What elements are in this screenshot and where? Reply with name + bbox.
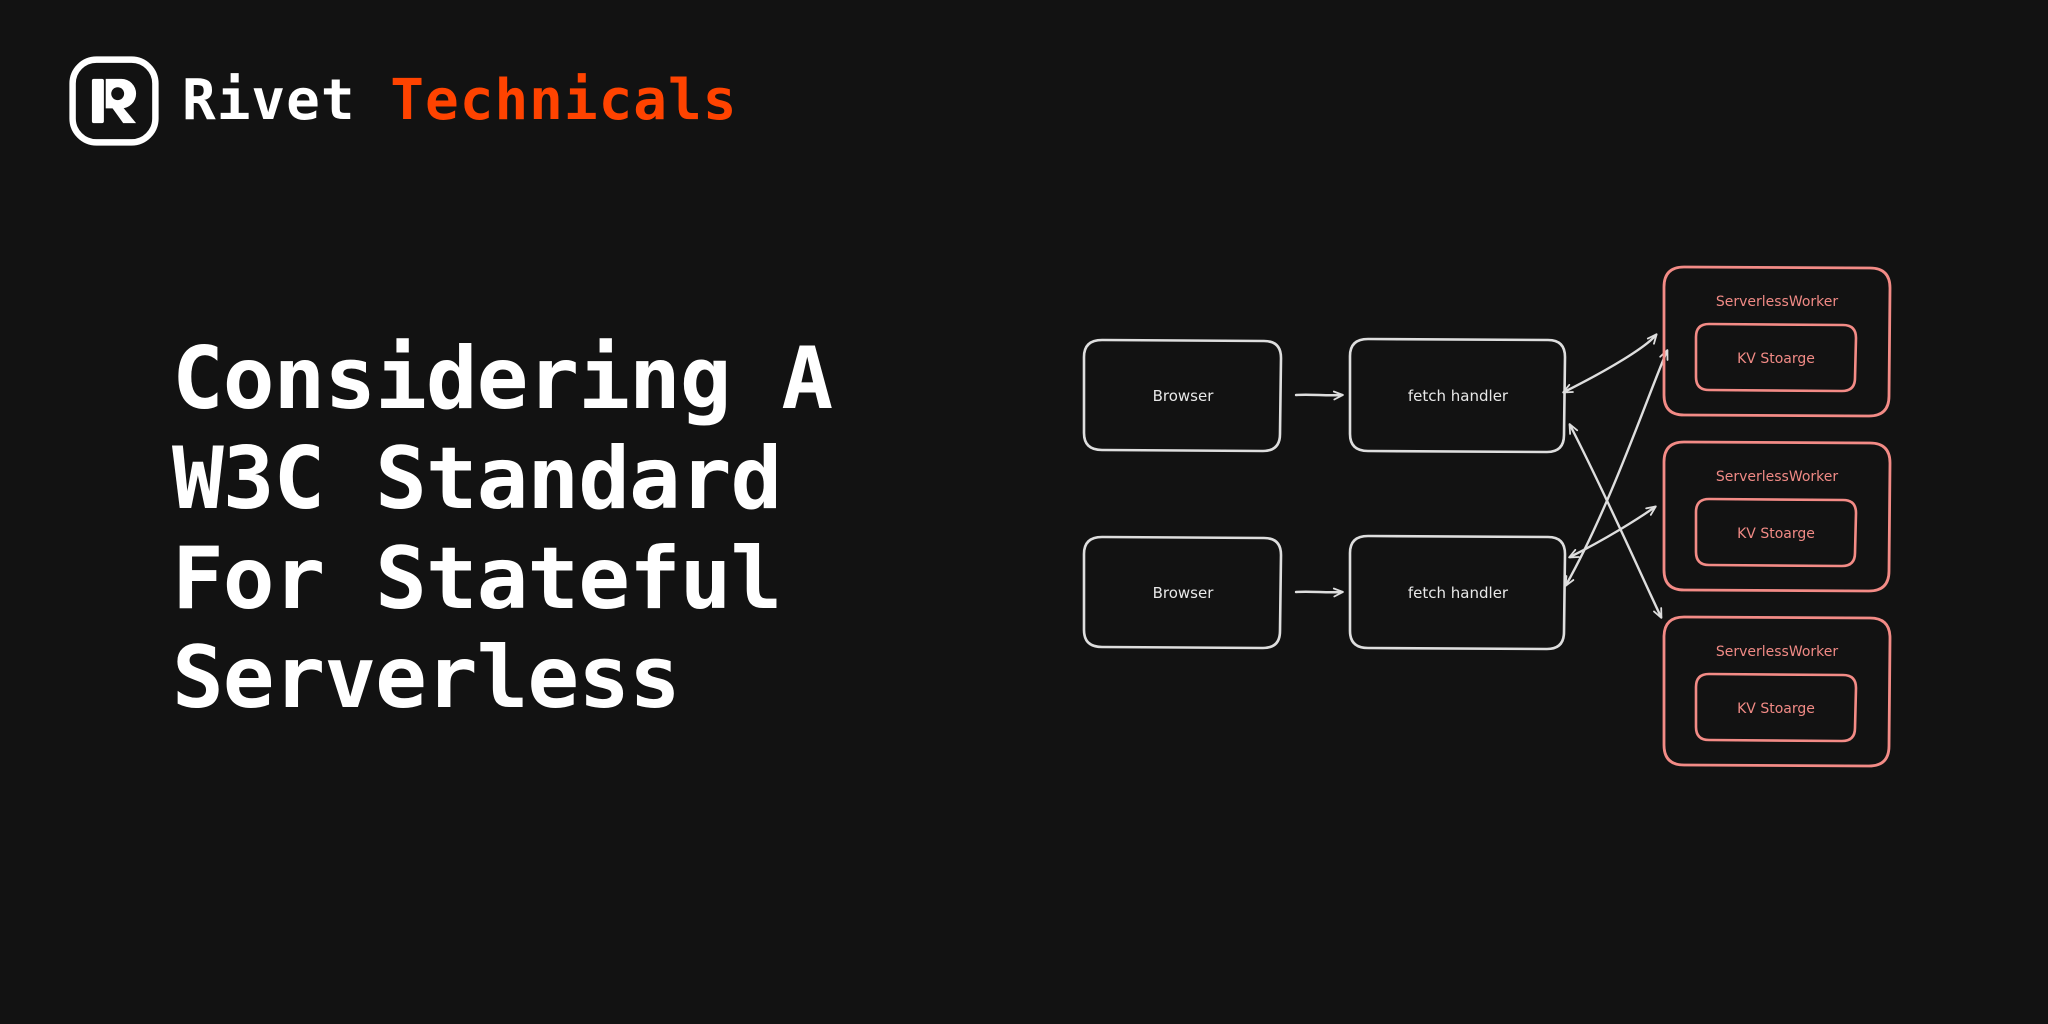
slide-canvas: Rivet Technicals Considering A W3C Stand… — [0, 0, 2048, 1024]
node-kv-storage-1-label: KV Stoarge — [1737, 351, 1815, 367]
brand-header: Rivet Technicals — [68, 55, 737, 147]
node-browser-2-label: Browser — [1153, 584, 1215, 602]
node-browser-1-label: Browser — [1153, 387, 1215, 405]
architecture-diagram: Browser Browser fetch handler fetch hand… — [1050, 255, 1960, 775]
node-browser-2[interactable]: Browser — [1084, 537, 1281, 648]
brand-word-rivet: Rivet — [182, 73, 356, 129]
architecture-diagram-svg: Browser Browser fetch handler fetch hand… — [1050, 255, 1960, 775]
edge-browser-2-to-fetch-2 — [1296, 592, 1342, 593]
node-serverless-worker-3[interactable]: ServerlessWorker KV Stoarge — [1664, 617, 1890, 766]
node-serverless-worker-1[interactable]: ServerlessWorker KV Stoarge — [1664, 267, 1890, 416]
headline-line-1: Considering A — [172, 330, 972, 430]
node-serverless-worker-1-label: ServerlessWorker — [1716, 294, 1839, 310]
edge-fetch-2-to-worker-1 — [1566, 351, 1667, 585]
headline-line-2: W3C Standard — [172, 430, 972, 530]
edge-layer — [1296, 335, 1667, 617]
brand-word-technicals: Technicals — [390, 73, 737, 129]
edge-fetch-1-to-worker-1 — [1564, 335, 1656, 392]
headline-line-3: For Stateful — [172, 530, 972, 630]
node-fetch-handler-1[interactable]: fetch handler — [1350, 339, 1565, 452]
brand-word-space — [356, 73, 391, 129]
edge-browser-1-to-fetch-1 — [1296, 395, 1342, 396]
node-fetch-handler-2-label: fetch handler — [1408, 584, 1509, 602]
node-fetch-handler-1-label: fetch handler — [1408, 387, 1509, 405]
node-serverless-worker-3-label: ServerlessWorker — [1716, 644, 1839, 660]
brand-wordmark: Rivet Technicals — [182, 73, 737, 129]
node-fetch-handler-2[interactable]: fetch handler — [1350, 536, 1565, 649]
node-kv-storage-2-label: KV Stoarge — [1737, 526, 1815, 542]
node-kv-storage-3-label: KV Stoarge — [1737, 701, 1815, 717]
headline-line-4: Serverless — [172, 629, 972, 729]
node-serverless-worker-2-label: ServerlessWorker — [1716, 469, 1839, 485]
node-serverless-worker-2[interactable]: ServerlessWorker KV Stoarge — [1664, 442, 1890, 591]
edge-fetch-1-to-worker-3 — [1570, 425, 1661, 617]
page-title: Considering A W3C Standard For Stateful … — [172, 330, 972, 729]
node-browser-1[interactable]: Browser — [1084, 340, 1281, 451]
rivet-r-logo-icon — [68, 55, 160, 147]
